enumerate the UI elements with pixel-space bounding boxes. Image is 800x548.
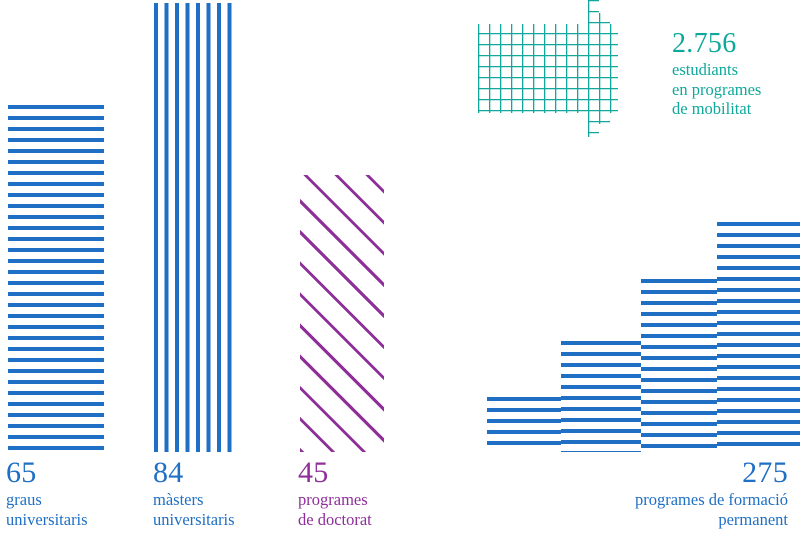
label-masters-universitaris: 84 màsters universitaris (153, 455, 235, 529)
caption-masters-line2: universitaris (153, 510, 235, 529)
infographic-canvas: 65 graus universitaris 84 màsters univer… (0, 0, 800, 548)
arrow-mobilitat (478, 0, 618, 160)
caption-formacio-line2: permanent (635, 510, 788, 529)
label-mobilitat: 2.756 estudiants en programes de mobilit… (672, 27, 761, 118)
value-masters: 84 (153, 455, 235, 490)
caption-mobilitat-line1: estudiants (672, 60, 761, 79)
label-formacio-permanent: 275 programes de formació permanent (635, 455, 788, 529)
bar-masters-universitaris (154, 3, 238, 452)
caption-graus-line2: universitaris (6, 510, 88, 529)
value-mobilitat: 2.756 (672, 27, 761, 60)
caption-graus-line1: graus (6, 490, 88, 509)
label-graus-universitaris: 65 graus universitaris (6, 455, 88, 529)
caption-doctorat-line1: programes (298, 490, 372, 509)
label-programes-doctorat: 45 programes de doctorat (298, 455, 372, 529)
caption-masters-line1: màsters (153, 490, 235, 509)
staircase-formacio-permanent (487, 222, 800, 452)
value-formacio: 275 (635, 455, 788, 490)
bar-graus-universitaris (8, 105, 104, 452)
value-graus: 65 (6, 455, 88, 490)
value-doctorat: 45 (298, 455, 372, 490)
caption-doctorat-line2: de doctorat (298, 510, 372, 529)
caption-formacio-line1: programes de formació (635, 490, 788, 509)
grid-arrow-icon (478, 0, 618, 160)
staircase-step-4 (717, 222, 800, 452)
bar-programes-doctorat (300, 175, 384, 452)
caption-mobilitat-line3: de mobilitat (672, 99, 761, 118)
caption-mobilitat-line2: en programes (672, 80, 761, 99)
